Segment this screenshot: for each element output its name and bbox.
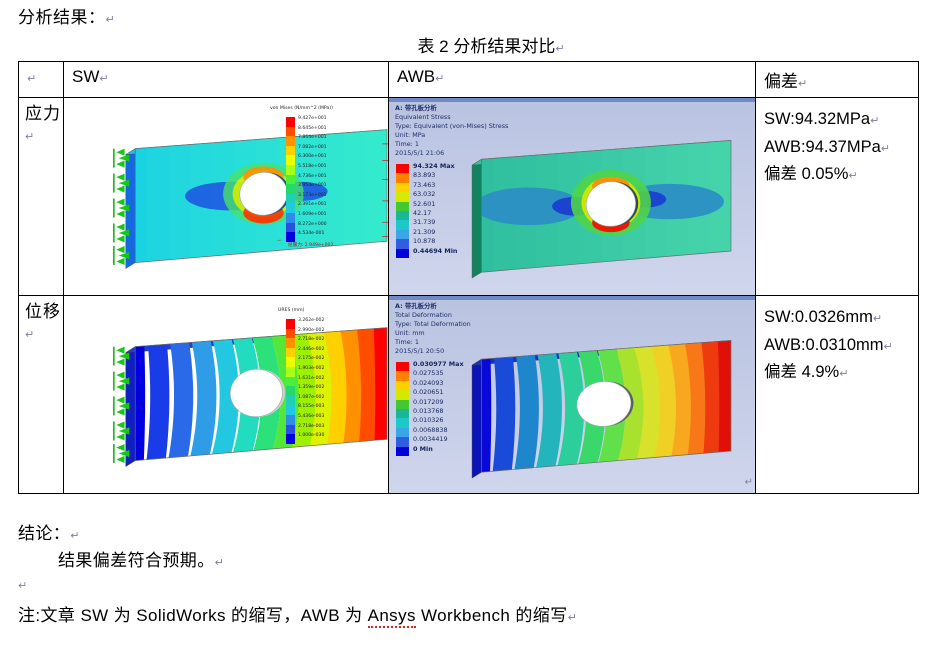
awb-legend-label: 83.893 [413, 171, 435, 180]
sw-legend-label: 2.990e-002 [298, 326, 324, 336]
legend-color-swatch [396, 428, 409, 437]
deviation-line: SW:0.0326mm↵ [764, 304, 918, 332]
cell-awb-stress-figure: A: 带孔板分析Equivalent StressType: Equivalen… [389, 98, 756, 296]
sw-legend-label: 7.082e+001 [298, 143, 327, 153]
legend-color-swatch [396, 418, 409, 427]
legend-color-swatch [286, 357, 295, 367]
awb-legend-label: 73.463 [413, 181, 435, 190]
sw-legend-label: 2.391e+001 [298, 200, 327, 210]
legend-color-swatch [396, 211, 409, 220]
legend-color-swatch [396, 220, 409, 229]
legend-color-swatch [286, 434, 295, 444]
legend-color-swatch [396, 371, 409, 380]
pilcrow-mark: ↵ [745, 477, 753, 488]
sw-legend-label: 5.518e+001 [298, 162, 327, 172]
awb-legend-label: 0.0034419 [413, 435, 448, 444]
legend-color-swatch [396, 400, 409, 409]
awb-legend-label: 21.309 [413, 228, 435, 237]
table-row-displacement: 位移↵ URES (mm)3.262e-0022.990e-0022.718e-… [19, 296, 919, 494]
header-cell-deviation: 偏差↵ [756, 62, 919, 98]
conclusion-label: 结论：↵ [18, 519, 80, 544]
legend-color-swatch [396, 362, 409, 371]
sw-legend-label: 4.534e-001 [298, 229, 324, 239]
legend-color-swatch [286, 203, 295, 213]
awb-legend-label: 0.013768 [413, 407, 444, 416]
pilcrow-mark: ↵ [848, 170, 857, 182]
awb-legend-label: 0.010326 [413, 416, 444, 425]
sw-legend-label: 5.436e-003 [298, 412, 324, 422]
deviation-text-stress: SW:94.32MPa↵AWB:94.37MPa↵偏差 0.05%↵ [756, 98, 918, 189]
legend-color-swatch [396, 173, 409, 182]
legend-color-swatch [396, 239, 409, 248]
awb-legend-colorbar [396, 164, 409, 258]
deviation-text-displacement: SW:0.0326mm↵AWB:0.0310mm↵偏差 4.9%↵ [756, 296, 918, 387]
awb-displacement-plot: A: 带孔板分析Total DeformationType: Total Def… [389, 296, 755, 493]
cell-awb-displacement-figure: A: 带孔板分析Total DeformationType: Total Def… [389, 296, 756, 494]
sw-legend-label: 1.631e-002 [298, 374, 324, 384]
sw-legend-title: URES (mm) [278, 308, 304, 313]
sw-legend-label: 1.000e-030 [298, 431, 324, 441]
pilcrow-mark: ↵ [839, 368, 848, 380]
awb-legend-label: 0.027535 [413, 369, 444, 378]
sw-legend-label: 2.718e-002 [298, 335, 324, 345]
pilcrow-mark: ↵ [568, 612, 578, 624]
pilcrow-mark: ↵ [18, 580, 28, 592]
table-header-row: ↵ SW↵ AWB↵ 偏差↵ [19, 62, 919, 98]
sw-stress-plot: von Mises (N/mm^2 (MPa))9.427e+0018.645e… [64, 98, 388, 295]
legend-color-swatch [286, 377, 295, 387]
analysis-result-heading: 分析结果：↵ [18, 3, 115, 28]
conclusion-label-text: 结论： [18, 524, 70, 543]
sw-legend-label: 6.300e+001 [298, 152, 327, 162]
awb-legend-label: 0.0068838 [413, 426, 448, 435]
sw-legend-label: 1.609e+001 [298, 210, 327, 220]
sw-legend-label: 8.272e+000 [298, 220, 327, 230]
awb-legend-label: 10.878 [413, 237, 435, 246]
sw-legend-label: 2.175e-002 [298, 354, 324, 364]
deviation-line: 偏差 4.9%↵ [764, 359, 918, 387]
yield-arrow-icon: → [276, 237, 282, 243]
legend-color-swatch [396, 447, 409, 456]
cell-sw-stress-figure: von Mises (N/mm^2 (MPa))9.427e+0018.645e… [64, 98, 389, 296]
pilcrow-mark: ↵ [215, 557, 225, 569]
empty-paragraph: ↵ [18, 574, 28, 594]
pilcrow-mark: ↵ [25, 329, 35, 341]
legend-color-swatch [286, 329, 295, 339]
header-label-sw: SW [72, 67, 99, 86]
legend-color-swatch [396, 437, 409, 446]
legend-color-swatch [286, 223, 295, 233]
conclusion-body: 结果偏差符合预期。↵ [58, 546, 224, 571]
plot-graphic [64, 98, 388, 290]
pilcrow-mark: ↵ [106, 14, 116, 26]
header-cell-sw: SW↵ [64, 62, 389, 98]
legend-color-swatch [396, 164, 409, 173]
analysis-comparison-table: ↵ SW↵ AWB↵ 偏差↵ 应力↵ von Mises (N/mm^2 (MP… [18, 61, 919, 494]
sw-legend-label: 7.864e+001 [298, 133, 327, 143]
awb-stress-plot: A: 带孔板分析Equivalent StressType: Equivalen… [389, 98, 755, 295]
sw-legend-colorbar [286, 117, 295, 242]
legend-color-swatch [286, 165, 295, 175]
pilcrow-mark: ↵ [25, 131, 35, 143]
awb-legend-label: 0 Min [413, 445, 433, 454]
footnote-underlined-term: Ansys [368, 606, 416, 628]
legend-color-swatch [396, 249, 409, 258]
pilcrow-mark: ↵ [435, 73, 444, 85]
deviation-line: AWB:0.0310mm↵ [764, 332, 918, 360]
deviation-line: 偏差 0.05%↵ [764, 161, 918, 189]
legend-color-swatch [396, 183, 409, 192]
sw-legend-colorbar [286, 319, 295, 444]
pilcrow-mark: ↵ [99, 73, 108, 85]
pilcrow-mark: ↵ [873, 313, 882, 325]
pilcrow-mark: ↵ [555, 43, 564, 55]
legend-color-swatch [286, 213, 295, 223]
awb-legend-label: 42.17 [413, 209, 431, 218]
footnote-suffix: Workbench 的缩写 [416, 606, 568, 625]
awb-legend-label: 0.020651 [413, 388, 444, 397]
row-label-cell-stress: 应力↵ [19, 98, 64, 296]
awb-displacement-panel: A: 带孔板分析Total DeformationType: Total Def… [389, 296, 755, 493]
deviation-line: AWB:94.37MPa↵ [764, 134, 918, 162]
sw-legend-label: 3.262e-002 [298, 316, 324, 326]
table-caption: 表 2 分析结果对比↵ [0, 32, 932, 57]
legend-color-swatch [286, 319, 295, 329]
sw-legend-label: 8.645e+001 [298, 124, 327, 134]
cell-deviation-stress: SW:94.32MPa↵AWB:94.37MPa↵偏差 0.05%↵ [756, 98, 919, 296]
legend-color-swatch [286, 348, 295, 358]
plot-graphic [451, 108, 751, 290]
header-cell-corner: ↵ [19, 62, 64, 98]
sw-legend-label: 1.359e-002 [298, 383, 324, 393]
legend-color-swatch [286, 405, 295, 415]
legend-color-swatch [286, 146, 295, 156]
pilcrow-mark: ↵ [798, 78, 807, 90]
sw-legend-label: 1.903e-002 [298, 364, 324, 374]
header-cell-awb: AWB↵ [389, 62, 756, 98]
sw-legend-label: 2.718e-003 [298, 422, 324, 432]
table-caption-text: 表 2 分析结果对比 [417, 37, 555, 56]
sw-legend-label: 9.427e+001 [298, 114, 327, 124]
awb-legend-colorbar [396, 362, 409, 456]
legend-color-swatch [286, 415, 295, 425]
legend-color-swatch [286, 194, 295, 204]
legend-color-swatch [286, 338, 295, 348]
legend-color-swatch [396, 202, 409, 211]
plot-graphic [451, 308, 751, 490]
pilcrow-mark: ↵ [881, 143, 890, 155]
footnote: 注:文章 SW 为 SolidWorks 的缩写，AWB 为 Ansys Wor… [18, 601, 577, 626]
sw-legend-title: von Mises (N/mm^2 (MPa)) [270, 106, 333, 111]
legend-color-swatch [286, 425, 295, 435]
legend-color-swatch [286, 396, 295, 406]
awb-legend-label: 0.024093 [413, 379, 444, 388]
legend-color-swatch [396, 381, 409, 390]
plot-graphic [64, 296, 388, 488]
legend-color-swatch [286, 184, 295, 194]
pilcrow-mark: ↵ [70, 530, 80, 542]
awb-legend-label: 63.032 [413, 190, 435, 199]
sw-legend-label: 2.446e-002 [298, 345, 324, 355]
sw-displacement-plot: URES (mm)3.262e-0022.990e-0022.718e-0022… [64, 296, 388, 493]
pilcrow-mark: ↵ [884, 341, 893, 353]
cell-sw-displacement-figure: URES (mm)3.262e-0022.990e-0022.718e-0022… [64, 296, 389, 494]
awb-legend-label: 0.017209 [413, 398, 444, 407]
legend-color-swatch [286, 175, 295, 185]
legend-color-swatch [286, 232, 295, 242]
legend-color-swatch [396, 230, 409, 239]
sw-legend-label: 1.087e-002 [298, 393, 324, 403]
legend-color-swatch [396, 409, 409, 418]
legend-color-swatch [286, 367, 295, 377]
sw-legend-label: 3.173e+001 [298, 191, 327, 201]
analysis-result-heading-text: 分析结果： [18, 8, 106, 27]
cell-deviation-displacement: SW:0.0326mm↵AWB:0.0310mm↵偏差 4.9%↵ [756, 296, 919, 494]
sw-legend-label: 3.954e+001 [298, 181, 327, 191]
row-label-cell-displacement: 位移↵ [19, 296, 64, 494]
awb-legend-label: 31.739 [413, 218, 435, 227]
legend-color-swatch [286, 127, 295, 137]
legend-color-swatch [286, 155, 295, 165]
legend-color-swatch [396, 192, 409, 201]
sw-legend-label: 8.155e-003 [298, 402, 324, 412]
row-label-stress: 应力 [25, 104, 61, 123]
table-row-stress: 应力↵ von Mises (N/mm^2 (MPa))9.427e+0018.… [19, 98, 919, 296]
deviation-line: SW:94.32MPa↵ [764, 106, 918, 134]
awb-stress-panel: A: 带孔板分析Equivalent StressType: Equivalen… [389, 98, 755, 295]
footnote-prefix: 注:文章 SW 为 SolidWorks 的缩写，AWB 为 [18, 606, 368, 625]
legend-color-swatch [286, 136, 295, 146]
row-label-displacement: 位移 [25, 302, 61, 321]
awb-legend-label: 52.601 [413, 200, 435, 209]
sw-yield-label: 屈服力: 2.949e+002 [288, 242, 333, 248]
pilcrow-mark: ↵ [27, 73, 36, 85]
header-label-deviation: 偏差 [764, 72, 798, 91]
legend-color-swatch [286, 117, 295, 127]
awb-legend-label: 94.324 Max [413, 162, 455, 171]
pilcrow-mark: ↵ [870, 115, 879, 127]
legend-color-swatch [286, 386, 295, 396]
sw-legend-label: 4.736e+001 [298, 172, 327, 182]
conclusion-body-text: 结果偏差符合预期。 [58, 551, 215, 570]
legend-color-swatch [396, 390, 409, 399]
header-label-awb: AWB [397, 67, 435, 86]
